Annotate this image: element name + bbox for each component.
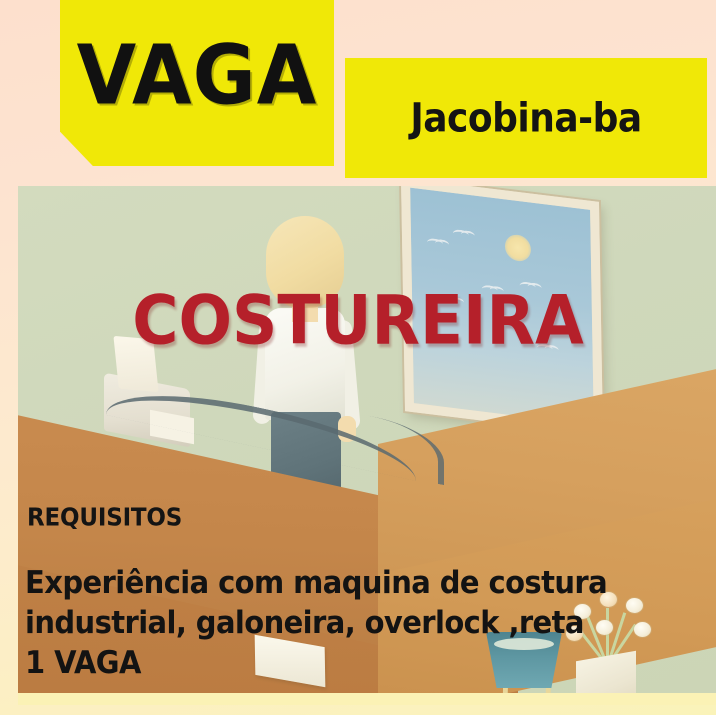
bird-icon: [453, 229, 469, 240]
vaga-badge-label: VAGA: [77, 29, 318, 123]
requirements-list: Experiência com maquina de costura indus…: [25, 562, 715, 682]
vaga-badge: VAGA: [60, 0, 334, 166]
bird-icon: [427, 238, 443, 249]
city-banner-label: Jacobina-ba: [410, 95, 641, 141]
requirements-line: Experiência com maquina de costura: [25, 560, 715, 603]
job-title: COSTUREIRA: [0, 281, 716, 360]
job-vacancy-poster: VAGA Jacobina-ba: [0, 0, 716, 715]
bottom-strip: [18, 693, 716, 705]
requirements-line: industrial, galoneira, overlock ,reta: [25, 600, 715, 643]
city-banner: Jacobina-ba: [345, 58, 707, 178]
requirements-line: 1 VAGA: [25, 640, 715, 683]
requirements-heading: REQUISITOS: [27, 504, 182, 533]
